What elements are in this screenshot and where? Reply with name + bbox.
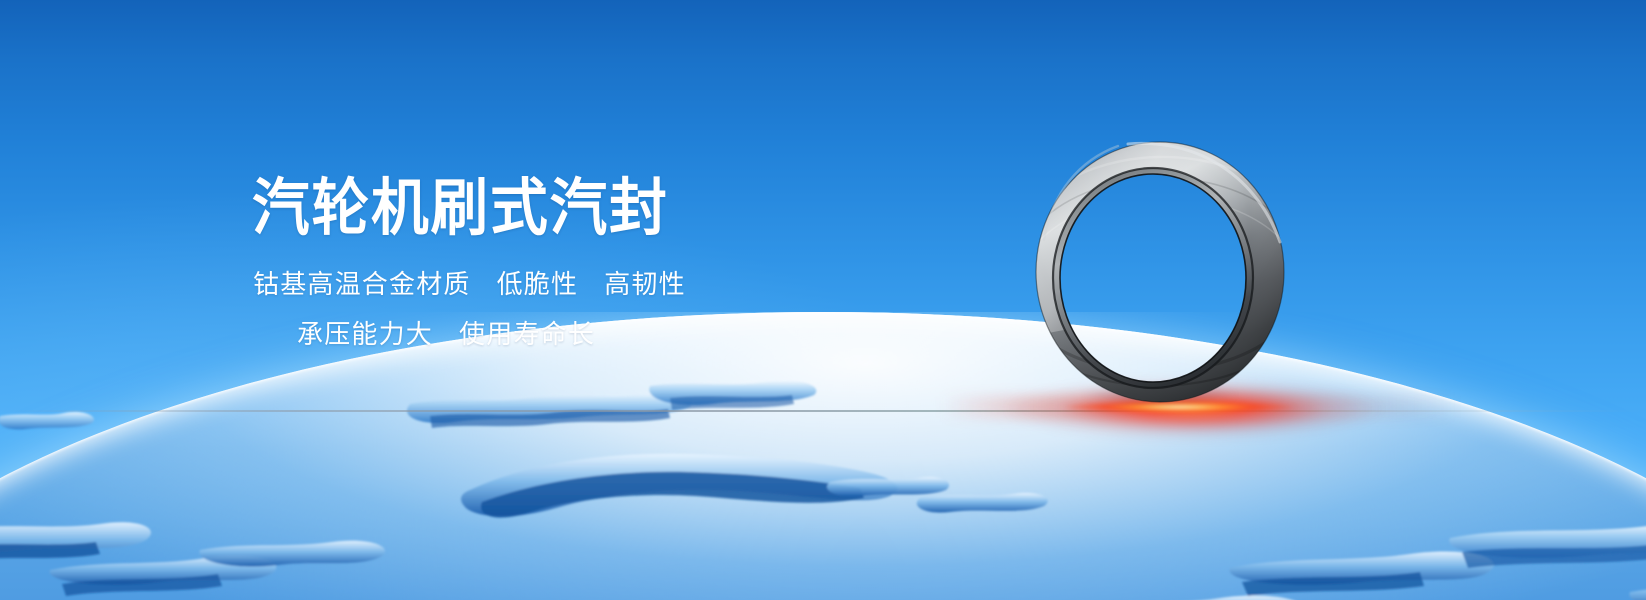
metal-seal-ring: [1032, 136, 1288, 408]
product-hero-banner: 汽轮机刷式汽封 钴基高温合金材质低脆性高韧性 承压能力大使用寿命长: [0, 0, 1646, 600]
landmass-shapes: [0, 312, 1646, 600]
seal-ring-graphic: [1032, 136, 1288, 408]
ring-bore-wall: [1032, 136, 1288, 408]
globe-landmasses: [0, 312, 1646, 600]
earth-globe: [0, 312, 1646, 600]
